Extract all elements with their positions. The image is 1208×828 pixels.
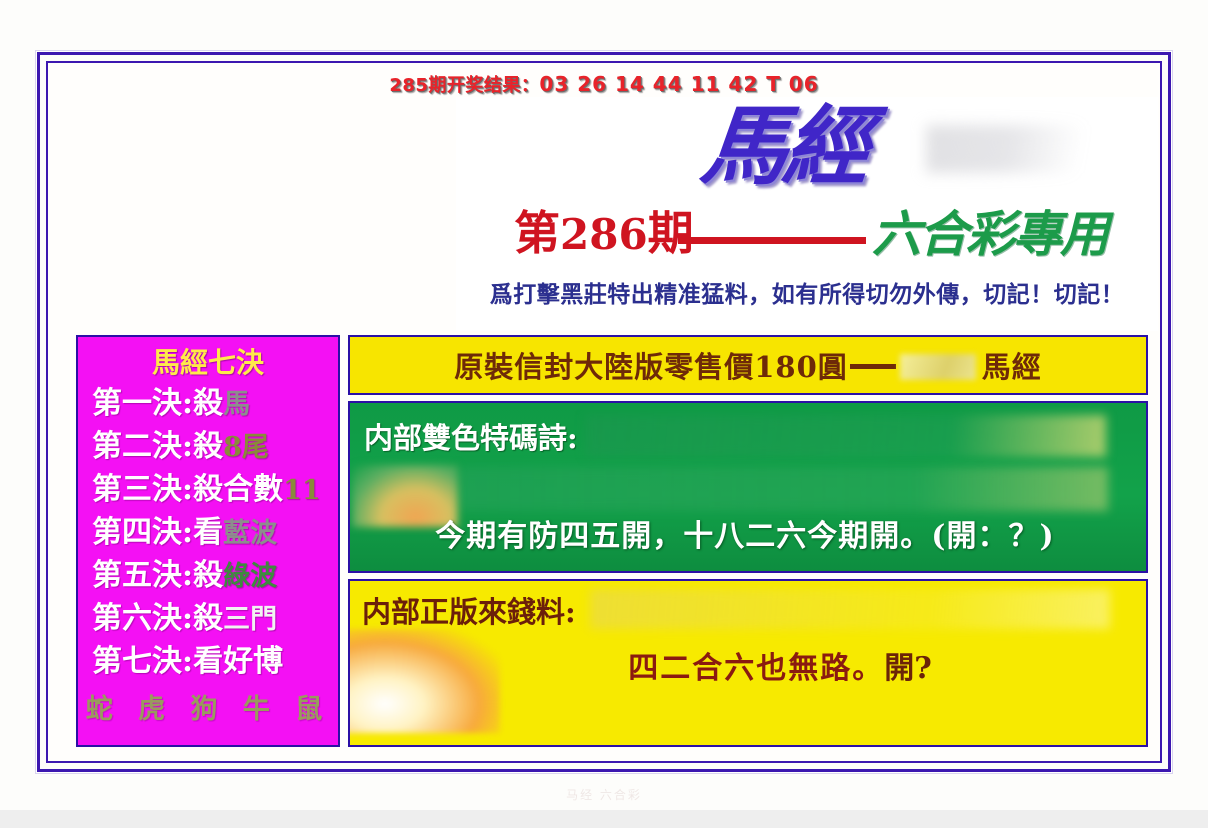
green-redaction-middle: [458, 467, 1108, 511]
previous-draw-numbers: 03 26 14 44 11 42 T 06: [539, 72, 818, 96]
special-code-poem-text: 今期有防四五開，十八二六今期開。(開：？): [350, 511, 1140, 555]
money-tip-phrase: 四二合六也無路。: [628, 651, 884, 686]
special-code-poem-panel: 内部雙色特碼詩: 今期有防四五開，十八二六今期開。(開：？): [348, 401, 1148, 573]
issue-subtitle: 六合彩專用: [872, 201, 1107, 267]
decision-row-6: 第六決:殺三門: [78, 598, 338, 641]
decision-label-7: 第七決:看好博: [92, 644, 283, 679]
decision-label-3: 第三決:殺合數: [92, 472, 283, 507]
decision-value-3: 11: [283, 475, 321, 506]
green-redaction-top: [586, 415, 1106, 457]
price-banner: 原裝信封大陸版零售價180圓馬經: [348, 335, 1148, 395]
poster-outer-frame: 285期开奖结果：03 26 14 44 11 42 T 06 馬經 第286期…: [37, 52, 1171, 772]
money-tip-panel: 内部正版來錢料: 四二合六也無路。開?: [348, 579, 1148, 747]
masthead: 285期开奖结果：03 26 14 44 11 42 T 06 馬經 第286期…: [48, 63, 1160, 331]
decision-value-1: 馬: [223, 389, 250, 420]
decision-row-4: 第四決:看藍波: [78, 512, 338, 555]
price-text-before: 原裝信封大陸版零售價180圓: [454, 350, 848, 384]
money-tip-text: 四二合六也無路。開?: [414, 643, 1146, 687]
decision-label-5: 第五決:殺: [92, 558, 223, 593]
previous-draw-label: 285期开奖结果：: [389, 75, 539, 96]
issue-suffix: 期: [648, 206, 694, 260]
content-area: 馬經七決 第一決:殺馬 第二決:殺8尾 第三決:殺合數11 第四決:看藍波 第五…: [76, 335, 1148, 747]
decision-row-5: 第五決:殺綠波: [78, 555, 338, 598]
masthead-right-block: 馬經 第286期 六合彩專用 爲打擊黑莊特出精准猛料，如有所得切勿外傳，切記！切…: [456, 97, 1158, 331]
yellow-redaction-blur: [590, 589, 1110, 629]
special-code-poem-label: 内部雙色特碼詩:: [364, 417, 578, 459]
price-redaction-blur: [900, 354, 976, 380]
decision-row-1: 第一決:殺馬: [78, 383, 338, 426]
footer-ghost-watermark: 马经 六合彩: [0, 786, 1208, 803]
price-text-after: 馬經: [982, 350, 1042, 384]
seven-decisions-panel: 馬經七決 第一決:殺馬 第二決:殺8尾 第三決:殺合數11 第四決:看藍波 第五…: [76, 335, 340, 747]
poster-inner-frame: 285期开奖结果：03 26 14 44 11 42 T 06 馬經 第286期…: [46, 61, 1162, 763]
decision-value-2: 8尾: [223, 432, 269, 463]
decision-value-6: 三門: [223, 604, 277, 635]
decision-row-3: 第三決:殺合數11: [78, 469, 338, 512]
right-column: 原裝信封大陸版零售價180圓馬經 内部雙色特碼詩: 今期有防四五開，十八二六今期…: [348, 335, 1148, 747]
seven-decisions-title: 馬經七決: [78, 343, 338, 383]
decision-label-4: 第四決:看: [92, 515, 223, 550]
money-tip-label: 内部正版來錢料:: [362, 591, 576, 633]
decision-row-2: 第二決:殺8尾: [78, 426, 338, 469]
issue-number-text: 第286期: [514, 203, 694, 265]
decision-label-6: 第六決:殺: [92, 601, 223, 636]
issue-prefix: 第: [514, 206, 560, 260]
issue-banner: 第286期 六合彩專用: [456, 201, 1158, 273]
decision-label-1: 第一決:殺: [92, 386, 223, 421]
logo-area: 馬經: [456, 97, 1158, 207]
masthead-tagline: 爲打擊黑莊特出精准猛料，如有所得切勿外傳，切記！切記！: [456, 275, 1158, 309]
decision-value-4: 藍波: [223, 518, 277, 549]
zodiac-row: 蛇 虎 狗 牛 鼠: [78, 690, 338, 730]
page-canvas: 285期开奖结果：03 26 14 44 11 42 T 06 馬經 第286期…: [0, 0, 1208, 828]
issue-divider-rule: [678, 237, 866, 244]
decision-label-2: 第二決:殺: [92, 429, 223, 464]
previous-draw-result: 285期开奖结果：03 26 14 44 11 42 T 06: [48, 71, 1160, 97]
price-banner-text: 原裝信封大陸版零售價180圓馬經: [454, 344, 1042, 386]
brand-logo: 馬經: [697, 99, 871, 195]
price-divider-rule: [850, 364, 896, 369]
money-tip-open-tag: 開?: [884, 651, 932, 686]
decision-value-5: 綠波: [223, 561, 277, 592]
logo-smudge-blur: [926, 125, 1106, 173]
decision-row-7: 第七決:看好博: [78, 641, 338, 684]
issue-number: 286: [560, 210, 648, 259]
